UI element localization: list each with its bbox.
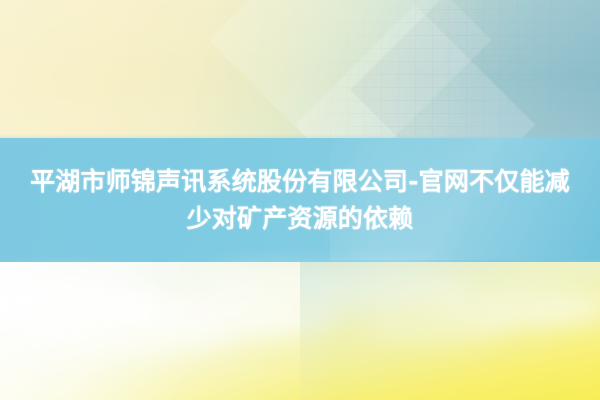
banner-image: 平湖市师锦声讯系统股份有限公司-官网不仅能减 少对矿产资源的依赖 bbox=[0, 0, 600, 400]
headline-line-2: 少对矿产资源的依赖 bbox=[187, 200, 414, 237]
top-sheen-overlay bbox=[0, 0, 600, 140]
bottom-left-white-wash bbox=[0, 262, 330, 400]
bottom-right-warm-overlay bbox=[300, 262, 600, 400]
headline-line-1: 平湖市师锦声讯系统股份有限公司-官网不仅能减 bbox=[30, 163, 570, 200]
banner-headline: 平湖市师锦声讯系统股份有限公司-官网不仅能减 少对矿产资源的依赖 bbox=[0, 138, 600, 262]
